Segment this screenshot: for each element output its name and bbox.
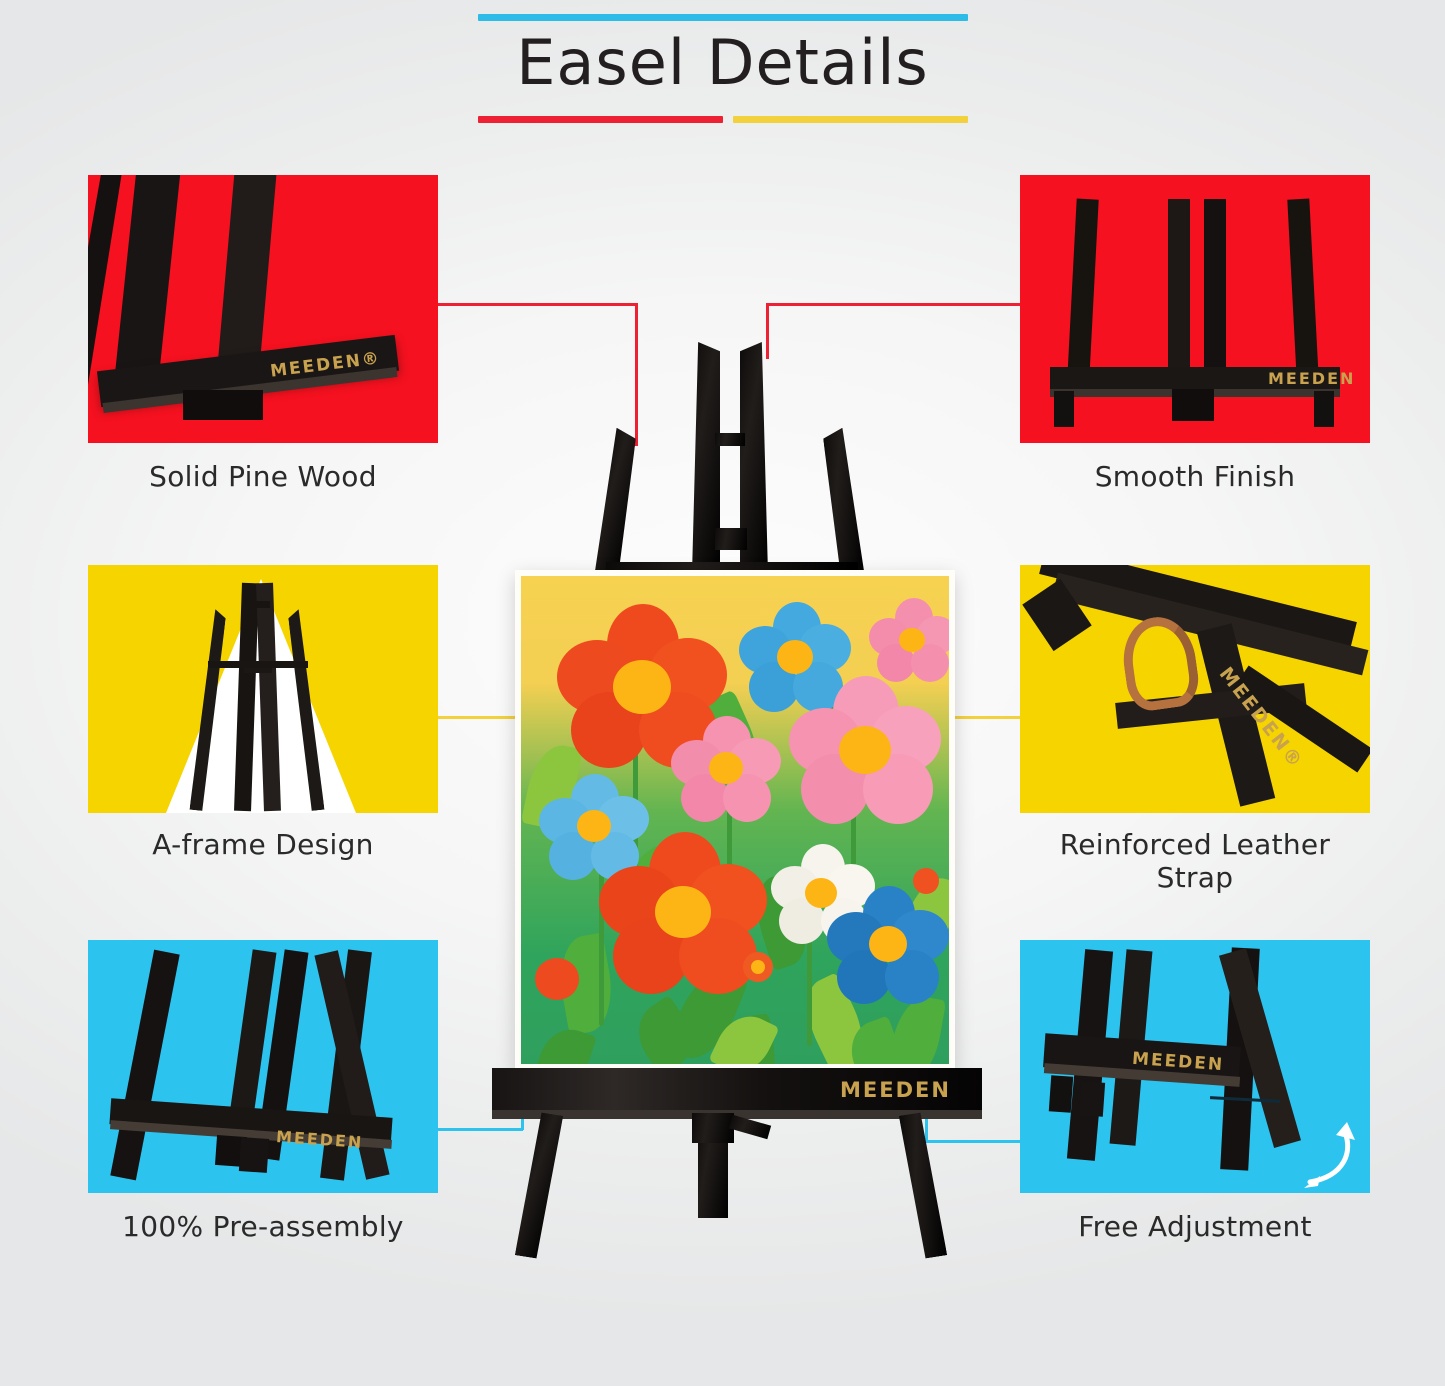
canvas-board xyxy=(515,570,955,1070)
page-header: Easel Details xyxy=(0,0,1445,150)
flower-pink-large xyxy=(789,676,941,824)
easel-front-leg-lower-left xyxy=(515,1112,563,1259)
feature-thumb-reinforced-leather-strap[interactable]: MEEDEN® xyxy=(1020,565,1370,813)
header-rule-top-cyan xyxy=(478,14,968,21)
flower-pink-medium xyxy=(671,716,781,822)
feature-thumb-solid-pine-wood[interactable]: MEEDEN® xyxy=(88,175,438,443)
flower-pink-top-right xyxy=(869,598,949,682)
feature-label-smooth-finish: Smooth Finish xyxy=(1020,460,1370,493)
feature-thumb-smooth-finish[interactable]: MEEDEN xyxy=(1020,175,1370,443)
feature-label-pre-assembly: 100% Pre-assembly xyxy=(88,1210,438,1243)
header-rule-yellow xyxy=(733,116,968,123)
feature-thumb-a-frame-design[interactable] xyxy=(88,565,438,813)
infographic-page: Easel Details xyxy=(0,0,1445,1386)
feature-thumb-free-adjustment[interactable]: MEEDEN xyxy=(1020,940,1370,1193)
feature-thumb-pre-assembly[interactable]: MEEDEN xyxy=(88,940,438,1193)
rotation-arrow-icon xyxy=(1248,1118,1358,1190)
feature-label-reinforced-leather-strap: Reinforced Leather Strap xyxy=(1020,828,1370,894)
easel-back-crossbar-top xyxy=(715,433,745,446)
flower-bud-orange-center xyxy=(743,952,773,982)
feature-label-free-adjustment: Free Adjustment xyxy=(1020,1210,1370,1243)
flower-bud-orange-right xyxy=(913,868,939,894)
brand-logo-thumb-smooth-finish: MEEDEN xyxy=(1268,369,1355,388)
easel-front-leg-lower-right xyxy=(899,1112,947,1259)
flower-blue-bottom-right xyxy=(827,886,949,1004)
flower-bud-orange-left xyxy=(535,958,579,1000)
flower-garden-painting xyxy=(521,576,949,1064)
feature-label-solid-pine-wood: Solid Pine Wood xyxy=(88,460,438,493)
header-rule-red xyxy=(478,116,723,123)
easel-back-crossbar-bottom xyxy=(715,528,747,550)
feature-label-a-frame-design: A-frame Design xyxy=(88,828,438,861)
easel-product-photo: MEEDEN xyxy=(430,330,1030,1260)
easel-front-leg-upper-right xyxy=(822,427,865,579)
easel-front-leg-upper-left xyxy=(594,427,637,579)
page-title: Easel Details xyxy=(0,26,1445,99)
brand-logo-ledge: MEEDEN xyxy=(840,1078,951,1102)
flower-orange-bottom xyxy=(599,832,767,994)
